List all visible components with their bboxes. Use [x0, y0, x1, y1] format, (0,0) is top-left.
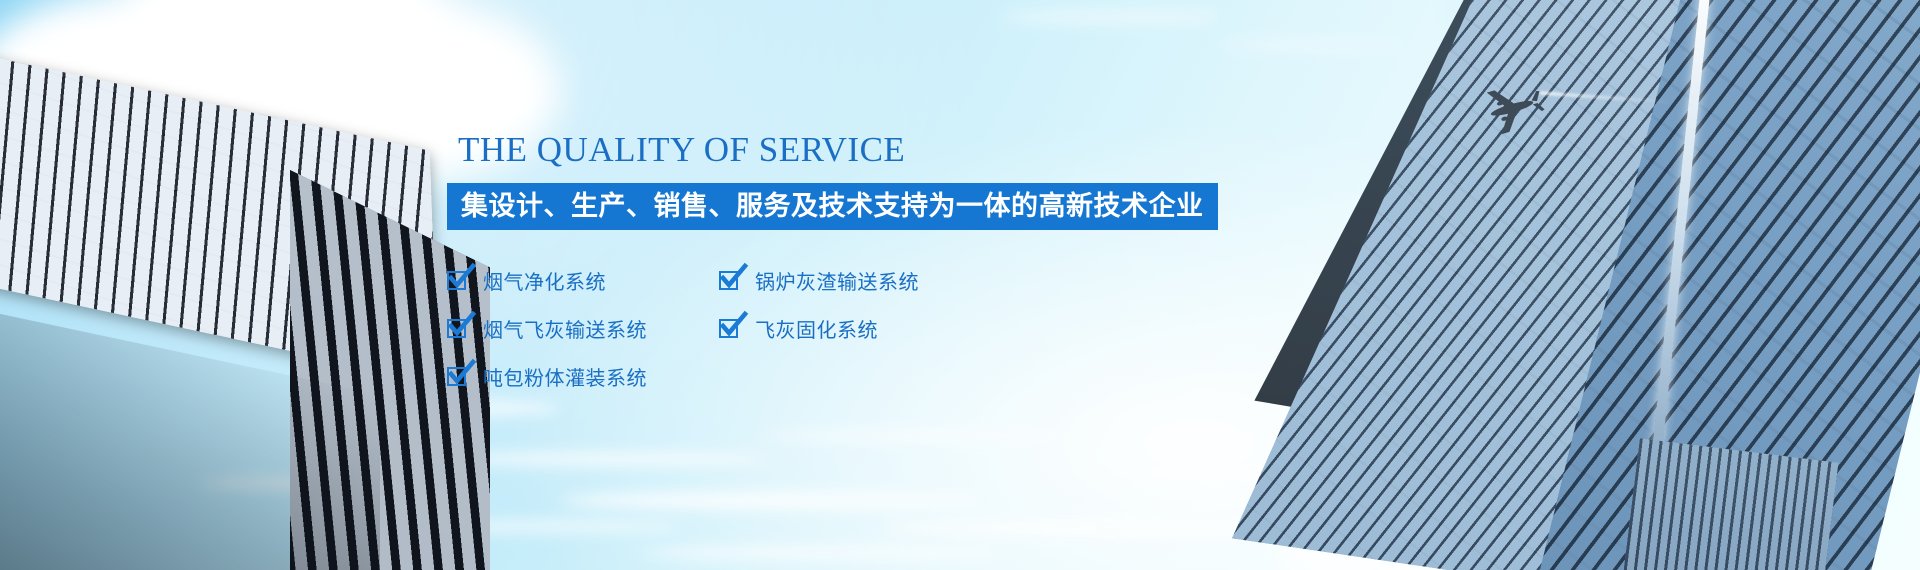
list-item-label: 烟气净化系统: [483, 266, 606, 295]
list-item[interactable]: 吨包粉体灌装系统: [447, 362, 719, 391]
checklist-row: 吨包粉体灌装系统: [447, 362, 1067, 391]
checkbox-checked-icon: [447, 271, 466, 290]
hero-banner: THE QUALITY OF SERVICE 集设计、生产、销售、服务及技术支持…: [0, 0, 1920, 570]
tagline-bar: 集设计、生产、销售、服务及技术支持为一体的高新技术企业: [447, 183, 1218, 230]
list-item-label: 吨包粉体灌装系统: [483, 362, 647, 391]
page-title: THE QUALITY OF SERVICE: [447, 132, 1447, 167]
list-item-label: 飞灰固化系统: [755, 314, 878, 343]
list-item-label: 锅炉灰渣输送系统: [755, 266, 919, 295]
right-building-base: [1622, 438, 1839, 570]
list-item[interactable]: 烟气净化系统: [447, 266, 719, 295]
list-item[interactable]: 飞灰固化系统: [719, 314, 878, 343]
checkbox-checked-icon: [719, 271, 738, 290]
glass-skyscraper-left: [0, 50, 480, 570]
list-item[interactable]: 烟气飞灰输送系统: [447, 314, 719, 343]
feature-checklist: 烟气净化系统 锅炉灰渣输送系统 烟气飞灰输送系统: [447, 266, 1067, 391]
checkbox-checked-icon: [447, 319, 466, 338]
list-item[interactable]: 锅炉灰渣输送系统: [719, 266, 919, 295]
checkbox-checked-icon: [719, 319, 738, 338]
list-item-label: 烟气飞灰输送系统: [483, 314, 647, 343]
banner-content: THE QUALITY OF SERVICE 集设计、生产、销售、服务及技术支持…: [447, 132, 1447, 410]
checkbox-checked-icon: [447, 367, 466, 386]
checklist-row: 烟气净化系统 锅炉灰渣输送系统: [447, 266, 1067, 295]
checklist-row: 烟气飞灰输送系统 飞灰固化系统: [447, 314, 1067, 343]
airplane-icon: [1478, 78, 1548, 138]
